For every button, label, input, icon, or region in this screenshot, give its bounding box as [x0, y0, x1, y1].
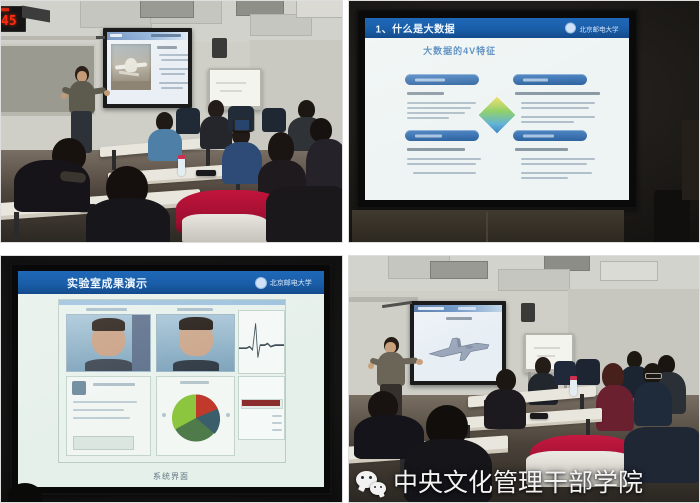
- wechat-logo-icon: [356, 470, 386, 495]
- bottle-cap: [178, 155, 185, 159]
- whiteboard-mark: [534, 347, 560, 349]
- photo-bottom-left-canvas: 实验室成果演示 北京邮电大学: [0, 255, 343, 503]
- slide-header-logo: 北京邮电大学: [565, 23, 618, 34]
- photo-top-left-canvas: ■■■ 45: [0, 0, 343, 243]
- instructor-hand-right: [104, 90, 110, 96]
- row-gap: [0, 243, 700, 255]
- led-sign-small-text: ■■■: [0, 8, 9, 13]
- slide-header-logo: 北京邮电大学: [255, 277, 312, 289]
- bottle-cap: [570, 376, 577, 380]
- led-sign-value: 45: [1, 15, 17, 28]
- slide-body: 系统界面: [18, 294, 324, 487]
- projection-screen-face: 1、什么是大数据 北京邮电大学 大数据的4V特征: [365, 18, 629, 200]
- chair: [576, 359, 600, 385]
- watermark-text: 中央文化管理干部学院: [393, 470, 643, 495]
- university-badge-icon: [255, 277, 267, 289]
- slide-glare: [365, 38, 629, 200]
- student-right-edge: [306, 118, 343, 194]
- phone-held[interactable]: [234, 119, 250, 131]
- ceiling-vent: [140, 0, 194, 18]
- whiteboard-mark: [220, 90, 242, 92]
- student-front-center: [86, 166, 170, 243]
- projector-cable: [96, 36, 105, 39]
- slide-header-title: 1、什么是大数据: [376, 21, 456, 36]
- photo-bottom-right-canvas: 中央文化管理干部学院: [348, 255, 700, 503]
- student-torso: [634, 382, 672, 426]
- instructor-hand-left: [61, 93, 67, 99]
- instructor-hand-left: [368, 363, 374, 369]
- side-object: [682, 120, 700, 200]
- wall-beam: [0, 36, 100, 40]
- student-torso: [148, 129, 182, 161]
- watermark: 中央文化管理干部学院: [356, 470, 643, 495]
- slide-header-bar: 1、什么是大数据 北京邮电大学: [365, 18, 629, 38]
- projection-screen-frame: 1、什么是大数据 北京邮电大学 大数据的4V特征: [356, 9, 638, 209]
- slide-body: 大数据的4V特征: [365, 38, 629, 200]
- instructor-torso: [377, 352, 405, 386]
- instructor-hand-right: [416, 359, 423, 365]
- slide-uav: [107, 32, 188, 104]
- desk-leg: [206, 146, 210, 166]
- slide-glare: [18, 294, 324, 487]
- wall-speaker: [521, 303, 535, 322]
- water-bottle: [178, 158, 185, 176]
- instructor-torso: [69, 81, 95, 113]
- student-front-left: [14, 138, 90, 208]
- projection-screen-frame: [103, 28, 192, 108]
- student-mid-left: [484, 369, 526, 427]
- cabinet: [352, 210, 624, 243]
- photo-top-left[interactable]: ■■■ 45: [0, 0, 343, 243]
- glasses-icon: [645, 373, 662, 379]
- photo-collage: ■■■ 45: [0, 0, 700, 503]
- student-mid-phone-user: [222, 122, 262, 182]
- slide-header-bar: 实验室成果演示 北京邮电大学: [18, 271, 324, 294]
- ceiling-vent: [430, 261, 488, 279]
- water-bottle: [570, 379, 577, 396]
- chair: [176, 108, 200, 134]
- student-torso: [14, 160, 90, 212]
- slide-bigdata: 1、什么是大数据 北京邮电大学 大数据的4V特征: [365, 18, 629, 200]
- slide-header-title: 实验室成果演示: [67, 275, 148, 291]
- cabinet-divider: [486, 212, 488, 243]
- slide-header-logo-text: 北京邮电大学: [270, 278, 312, 288]
- foreground-head: [8, 483, 42, 503]
- phone-on-desk: [530, 413, 548, 419]
- projection-screen-frame: 实验室成果演示 北京邮电大学: [10, 263, 332, 495]
- slide-demo: 实验室成果演示 北京邮电大学: [18, 271, 324, 487]
- dark-coat: [266, 186, 343, 243]
- projection-screen-face: [107, 32, 188, 104]
- white-jacket: [182, 214, 268, 243]
- chair: [262, 108, 286, 132]
- photo-top-right-canvas: 1、什么是大数据 北京邮电大学 大数据的4V特征: [348, 0, 700, 243]
- slide-header-logo-text: 北京邮电大学: [579, 23, 618, 33]
- photo-top-right[interactable]: 1、什么是大数据 北京邮电大学 大数据的4V特征: [348, 0, 700, 243]
- photo-bottom-right[interactable]: 中央文化管理干部学院: [348, 255, 700, 503]
- phone-on-desk: [196, 170, 216, 176]
- photo-bottom-left[interactable]: 实验室成果演示 北京邮电大学: [0, 255, 343, 503]
- slide-glare: [107, 32, 188, 104]
- wall-speaker: [212, 38, 227, 58]
- projection-screen-face: 实验室成果演示 北京邮电大学: [18, 271, 324, 487]
- desk-leg: [14, 212, 19, 240]
- ceiling-tile: [600, 261, 658, 281]
- student-head: [496, 369, 516, 391]
- ceiling-tile: [296, 0, 343, 18]
- student-torso: [484, 389, 526, 429]
- university-badge-icon: [565, 23, 576, 34]
- ceiling-tile: [498, 269, 570, 291]
- student-torso: [86, 198, 170, 243]
- whiteboard-mark: [216, 82, 246, 84]
- student-right-glasses: [634, 363, 670, 425]
